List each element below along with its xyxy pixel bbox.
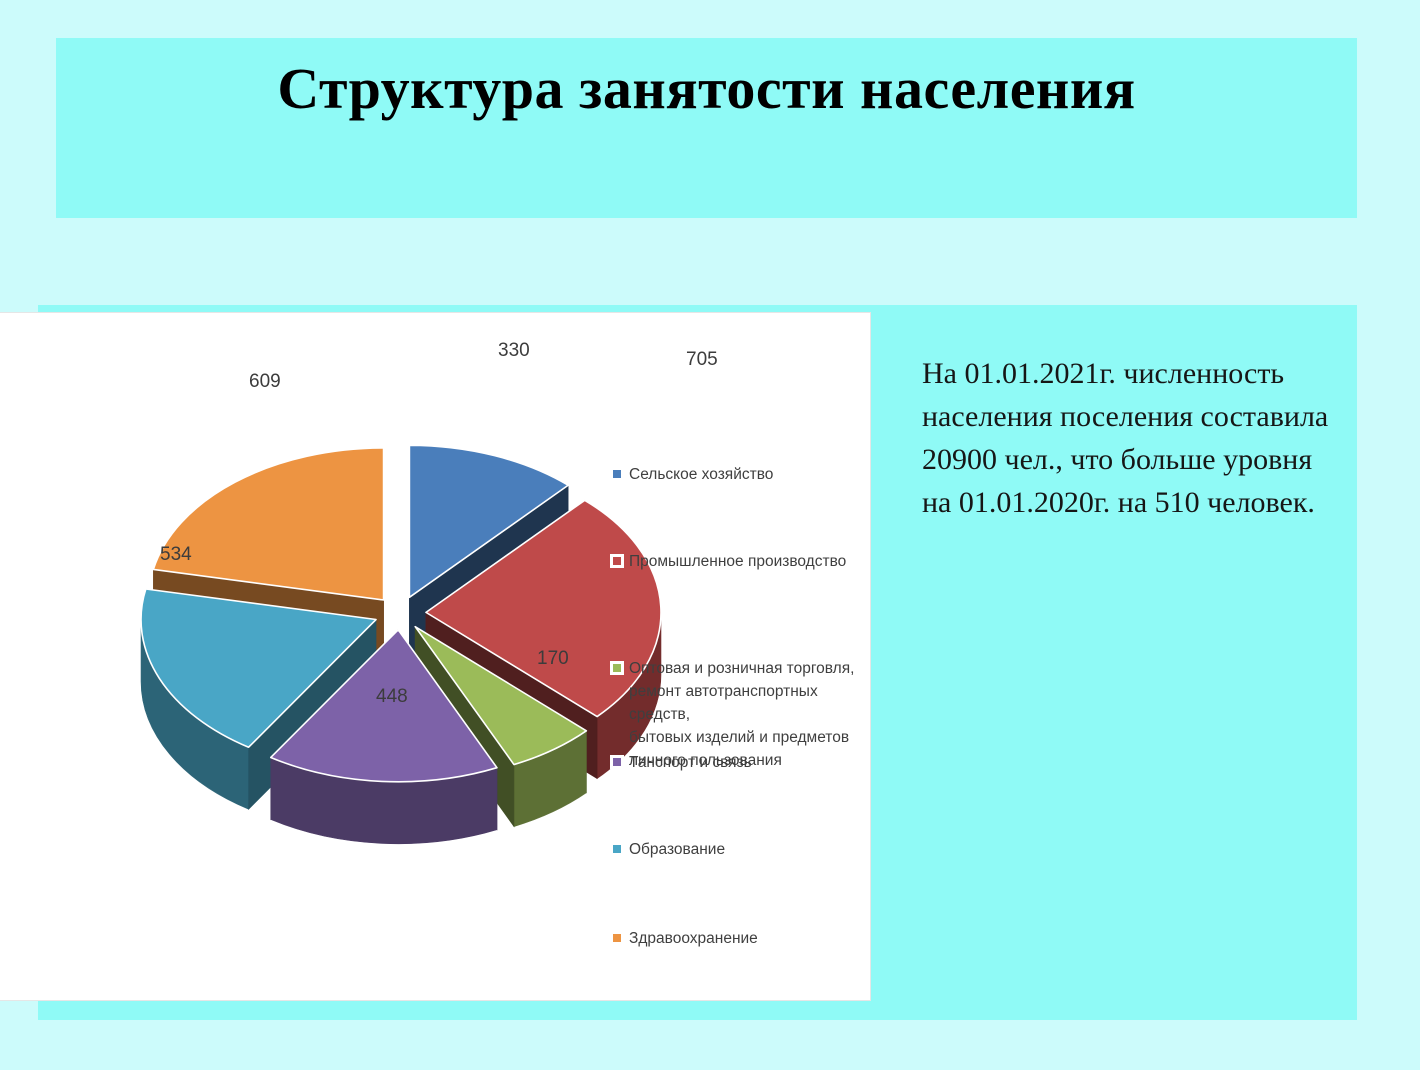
legend-item[interactable]: Здравоохранение — [613, 927, 758, 950]
legend-item-label: Промышленное производство — [629, 550, 846, 573]
chart-panel: 330705609534448170 Сельское хозяйствоПро… — [0, 313, 870, 1000]
legend-item-label: Здравоохранение — [629, 927, 758, 950]
population-note: На 01.01.2021г. численность населения по… — [922, 352, 1340, 524]
pie-value-label: 448 — [376, 686, 408, 708]
legend-item[interactable]: Промышленное производство — [613, 550, 846, 573]
legend-marker-icon — [613, 934, 621, 942]
pie-value-label: 170 — [537, 648, 569, 670]
legend-item-label: Сельское хозяйство — [629, 463, 773, 486]
legend-item-label: Образование — [629, 838, 725, 861]
legend-marker-icon — [613, 664, 621, 672]
pie-value-label: 609 — [249, 371, 281, 393]
legend-marker-icon — [613, 470, 621, 478]
legend-marker-icon — [613, 758, 621, 766]
legend-marker-icon — [613, 845, 621, 853]
legend-item[interactable]: Сельское хозяйство — [613, 463, 773, 486]
legend-marker-icon — [613, 557, 621, 565]
title-band: Структура занятости населения — [56, 38, 1357, 218]
page-title: Структура занятости населения — [56, 54, 1357, 124]
legend-item[interactable]: Танспорт и связь — [613, 751, 752, 774]
pie-value-label: 330 — [498, 340, 530, 362]
pie-value-label: 705 — [686, 349, 718, 371]
legend-item[interactable]: Образование — [613, 838, 725, 861]
legend-item-label: Танспорт и связь — [629, 751, 752, 774]
pie-value-label: 534 — [160, 544, 192, 566]
